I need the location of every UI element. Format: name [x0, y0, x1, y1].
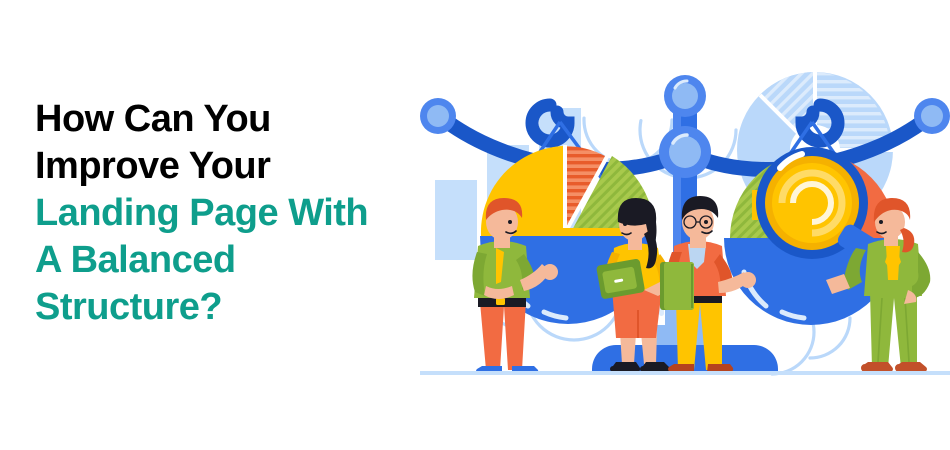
decor-circle-3 — [584, 76, 672, 164]
bar-1 — [435, 180, 477, 260]
headline-line-3: Landing Page With — [35, 190, 435, 237]
headline-line-4: A Balanced — [35, 237, 435, 284]
balance-scale-analytics-illustration — [420, 0, 950, 450]
banner-root: How Can You Improve Your Landing Page Wi… — [0, 0, 950, 450]
headline-line-5: Structure? — [35, 284, 435, 331]
headline-line-1: How Can You — [35, 96, 435, 143]
folder-icon — [660, 262, 694, 310]
headline-line-2: Improve Your — [35, 143, 435, 190]
page-title: How Can You Improve Your Landing Page Wi… — [35, 96, 435, 331]
